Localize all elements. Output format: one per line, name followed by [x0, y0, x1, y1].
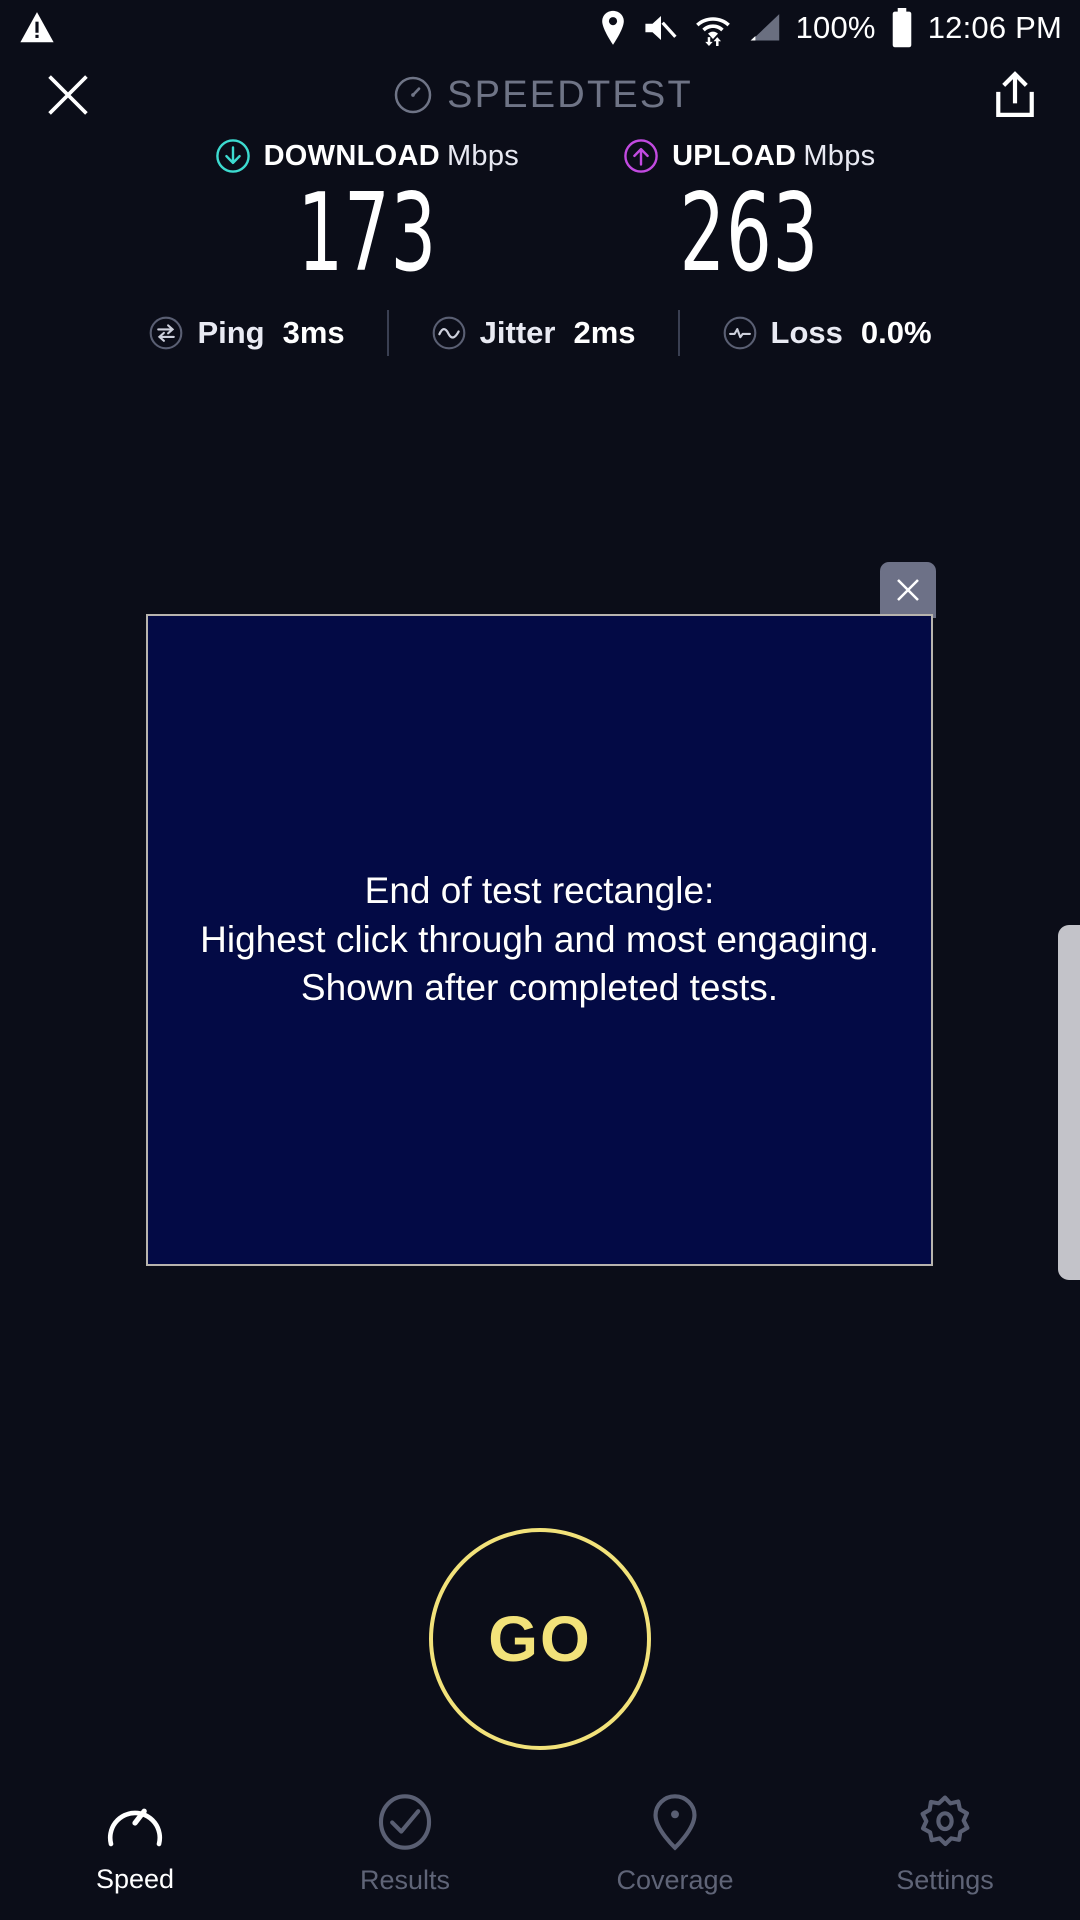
download-value: 173 — [297, 180, 436, 288]
loss-metric: Loss 0.0% — [718, 315, 936, 351]
go-button-label: GO — [488, 1602, 592, 1676]
status-bar: 100% 12:06 PM — [0, 0, 1080, 56]
upload-arrow-icon — [623, 138, 659, 174]
speed-metrics-row: DOWNLOADMbps 173 UPLOADMbps 263 — [0, 138, 1080, 288]
gear-icon — [916, 1793, 974, 1851]
upload-metric: UPLOADMbps 263 — [623, 138, 875, 288]
brand: SPEEDTEST — [393, 74, 693, 117]
download-label: DOWNLOADMbps — [264, 140, 520, 173]
location-pin-icon — [598, 10, 628, 46]
ping-icon — [148, 315, 184, 351]
speedometer-icon — [104, 1794, 166, 1850]
scrollbar-handle[interactable] — [1058, 925, 1080, 1280]
divider — [387, 310, 389, 356]
cellular-signal-icon — [746, 11, 782, 45]
warning-triangle-icon — [18, 9, 56, 47]
upload-label: UPLOADMbps — [672, 140, 875, 173]
volume-muted-icon — [642, 11, 680, 45]
divider — [678, 310, 680, 356]
bottom-navigation: Speed Results Coverage Settings — [0, 1768, 1080, 1920]
go-button[interactable]: GO — [429, 1528, 651, 1750]
loss-value: 0.0% — [861, 315, 932, 351]
jitter-metric: Jitter 2ms — [427, 315, 640, 351]
advertisement-banner[interactable]: End of test rectangle: Highest click thr… — [146, 614, 933, 1266]
jitter-label: Jitter — [480, 315, 556, 351]
nav-label-speed: Speed — [96, 1864, 174, 1895]
ad-close-button[interactable] — [880, 562, 936, 618]
nav-item-speed[interactable]: Speed — [0, 1794, 270, 1895]
status-time: 12:06 PM — [928, 10, 1062, 46]
status-bar-right: 100% 12:06 PM — [598, 8, 1062, 48]
nav-label-results: Results — [360, 1865, 450, 1896]
status-bar-left — [18, 9, 56, 47]
close-icon[interactable] — [42, 69, 94, 121]
ping-label: Ping — [197, 315, 264, 351]
ad-text: End of test rectangle: Highest click thr… — [200, 867, 879, 1013]
nav-label-settings: Settings — [896, 1865, 994, 1896]
nav-item-results[interactable]: Results — [270, 1793, 540, 1896]
download-metric: DOWNLOADMbps 173 — [215, 138, 520, 288]
brand-title: SPEEDTEST — [447, 74, 693, 117]
download-arrow-icon — [215, 138, 251, 174]
map-pin-icon — [649, 1793, 701, 1851]
test-results: DOWNLOADMbps 173 UPLOADMbps 263 — [0, 138, 1080, 356]
ping-metric: Ping 3ms — [144, 315, 348, 351]
speedometer-icon — [393, 75, 433, 115]
jitter-value: 2ms — [573, 315, 635, 351]
go-button-area: GO — [0, 1528, 1080, 1750]
loss-label: Loss — [771, 315, 843, 351]
ad-close-icon — [893, 575, 923, 605]
nav-label-coverage: Coverage — [616, 1865, 733, 1896]
app-bar: SPEEDTEST — [0, 56, 1080, 134]
upload-header: UPLOADMbps — [623, 138, 875, 174]
jitter-icon — [431, 315, 467, 351]
nav-item-coverage[interactable]: Coverage — [540, 1793, 810, 1896]
share-icon[interactable] — [992, 69, 1038, 121]
wifi-icon — [694, 10, 732, 46]
check-circle-icon — [376, 1793, 434, 1851]
network-quality-row: Ping 3ms Jitter 2ms Loss 0.0% — [0, 310, 1080, 356]
battery-percent: 100% — [796, 10, 876, 46]
speedtest-app-screen: 100% 12:06 PM SPEEDTEST — [0, 0, 1080, 1920]
download-header: DOWNLOADMbps — [215, 138, 520, 174]
ping-value: 3ms — [283, 315, 345, 351]
battery-full-icon — [890, 8, 914, 48]
upload-value: 263 — [680, 180, 819, 288]
loss-icon — [722, 315, 758, 351]
nav-item-settings[interactable]: Settings — [810, 1793, 1080, 1896]
